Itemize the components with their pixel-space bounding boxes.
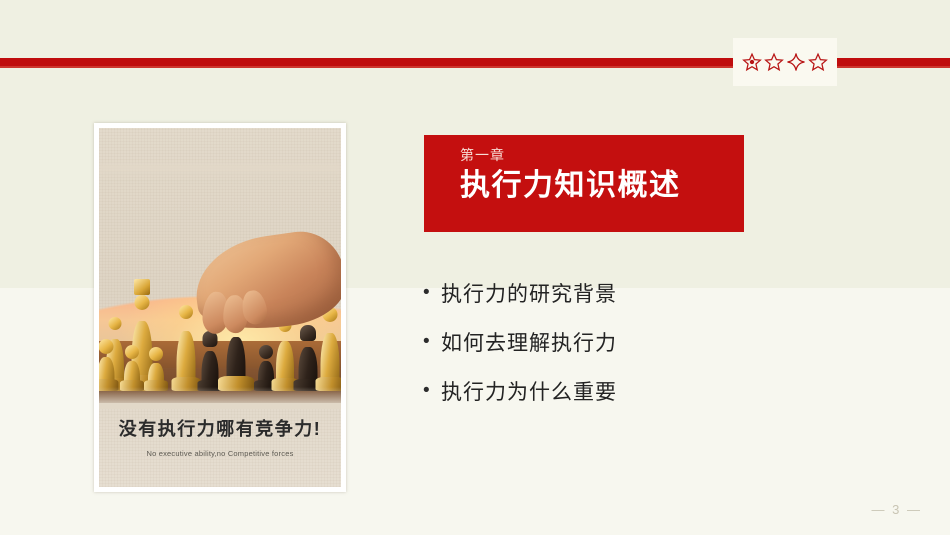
star-filled-icon (742, 52, 762, 72)
bullet-dot-icon: • (423, 381, 441, 400)
poster-inner: 没有执行力哪有竞争力! No executive ability,no Comp… (99, 128, 341, 487)
bullet-dot-icon: • (423, 332, 441, 351)
sparkle-diamond-icon (786, 52, 806, 72)
list-item-label: 如何去理解执行力 (441, 327, 617, 357)
page-number: — 3 — (872, 502, 922, 517)
poster-caption: 没有执行力哪有竞争力! No executive ability,no Comp… (99, 401, 341, 487)
star-outline-icon (764, 52, 784, 72)
page-title: 执行力知识概述 (460, 169, 744, 203)
bullet-dot-icon: • (423, 283, 441, 302)
list-item[interactable]: • 如何去理解执行力 (423, 317, 843, 366)
poster-sky-top-edge (99, 164, 341, 180)
chapter-label: 第一章 (460, 148, 744, 162)
chess-piece-pawn-gold-right (315, 307, 341, 391)
agenda-list: • 执行力的研究背景 • 如何去理解执行力 • 执行力为什么重要 (423, 268, 843, 415)
slide-canvas: 没有执行力哪有竞争力! No executive ability,no Comp… (0, 0, 950, 535)
list-item-label: 执行力为什么重要 (441, 376, 617, 406)
list-item[interactable]: • 执行力的研究背景 (423, 268, 843, 317)
poster-caption-cn: 没有执行力哪有竞争力! (119, 415, 322, 441)
chess-piece-pawn-gold-1 (99, 339, 119, 391)
chess-piece-pawn-gold-2 (119, 345, 145, 391)
four-stars-emblem (733, 38, 837, 86)
chess-piece-pawn-gold-3 (143, 347, 169, 391)
list-item-label: 执行力的研究背景 (441, 278, 617, 308)
chapter-title-box: 第一章 执行力知识概述 (424, 135, 744, 232)
chess-poster-image: 没有执行力哪有竞争力! No executive ability,no Comp… (94, 123, 346, 492)
list-item[interactable]: • 执行力为什么重要 (423, 366, 843, 415)
poster-caption-en: No executive ability,no Competitive forc… (146, 449, 293, 458)
star-outline-icon-2 (808, 52, 828, 72)
